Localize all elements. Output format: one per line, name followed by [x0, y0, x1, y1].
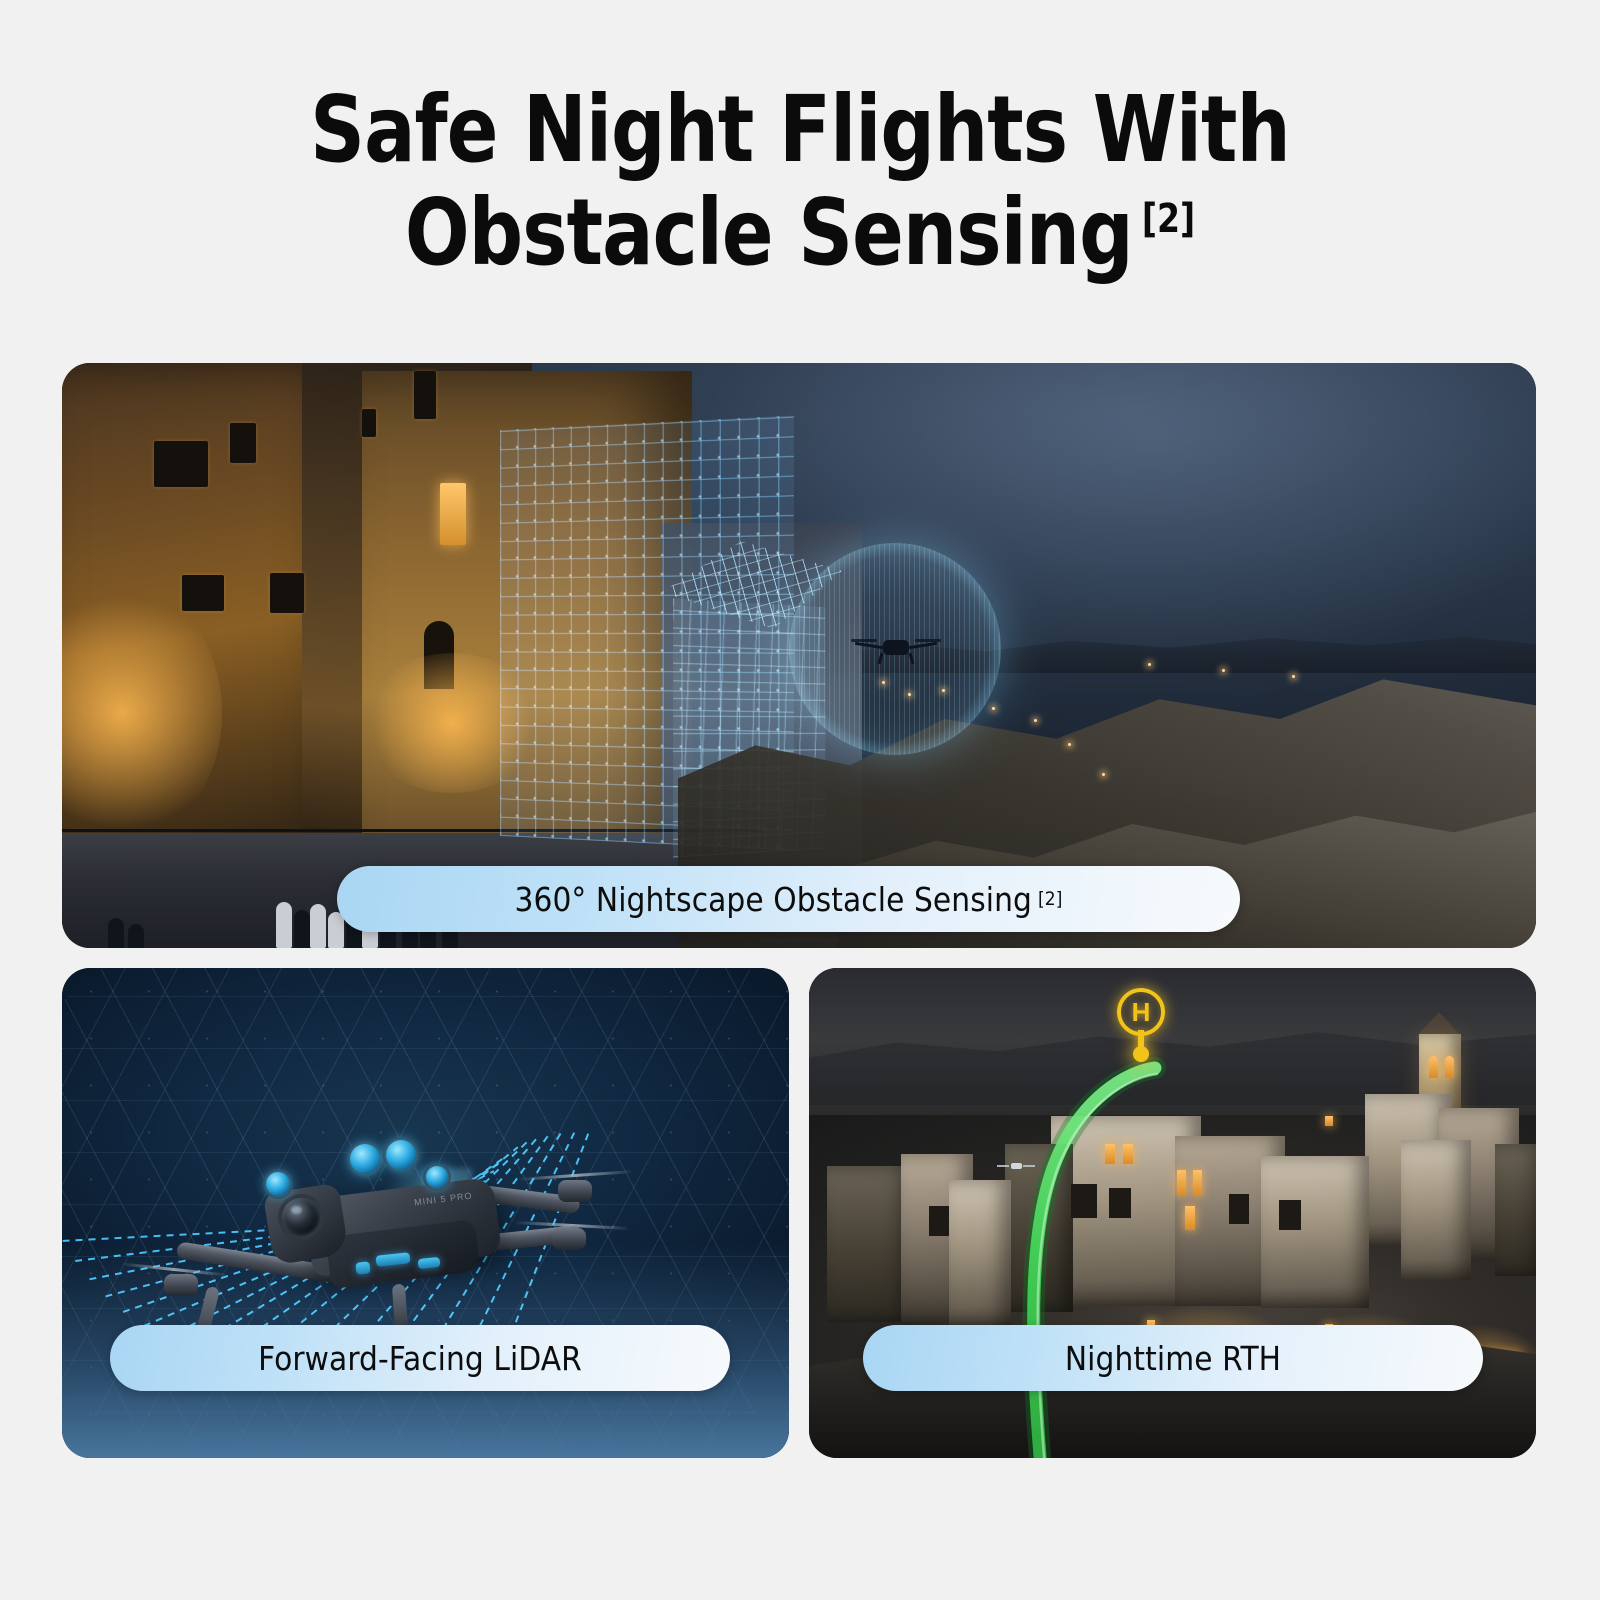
- label-pill-nightscape[interactable]: 360° Nightscape Obstacle Sensing[2]: [337, 866, 1240, 932]
- page-title-line2-text: Obstacle Sensing: [405, 179, 1133, 286]
- vision-sensor-icon: [426, 1166, 448, 1188]
- page-title: Safe Night Flights With Obstacle Sensing…: [64, 78, 1536, 284]
- label-pill-rth-text: Nighttime RTH: [1065, 1339, 1281, 1378]
- page-title-line1: Safe Night Flights With: [310, 76, 1290, 183]
- home-point-marker: H: [1109, 988, 1173, 1066]
- lidar-sensor-icon: [350, 1144, 380, 1174]
- card-forward-facing-lidar[interactable]: MINI 5 PRO Forward-Facing LiDAR: [62, 968, 789, 1458]
- feature-card-grid: 360° Nightscape Obstacle Sensing[2]: [62, 363, 1536, 1458]
- card-nightscape-obstacle-sensing[interactable]: 360° Nightscape Obstacle Sensing[2]: [62, 363, 1536, 948]
- lidar-sensor-icon: [386, 1140, 416, 1170]
- drone-silhouette: [857, 631, 935, 665]
- label-pill-nightscape-text: 360° Nightscape Obstacle Sensing: [514, 880, 1032, 919]
- home-marker-dot-icon: [1133, 1046, 1149, 1062]
- card-nighttime-rth[interactable]: H Nighttime RTH: [809, 968, 1536, 1458]
- label-pill-lidar[interactable]: Forward-Facing LiDAR: [110, 1325, 730, 1391]
- label-pill-rth[interactable]: Nighttime RTH: [863, 1325, 1483, 1391]
- nightscape-scene-image: [62, 363, 1536, 948]
- vision-sensor-icon: [266, 1172, 290, 1196]
- camera-lens-icon: [282, 1198, 320, 1236]
- label-pill-lidar-text: Forward-Facing LiDAR: [258, 1339, 582, 1378]
- label-pill-nightscape-superscript: [2]: [1038, 888, 1063, 910]
- page-title-superscript: [2]: [1142, 196, 1195, 242]
- home-marker-letter: H: [1117, 988, 1165, 1036]
- page-title-line2: Obstacle Sensing[2]: [64, 181, 1536, 284]
- drone-marker: [1001, 1162, 1031, 1170]
